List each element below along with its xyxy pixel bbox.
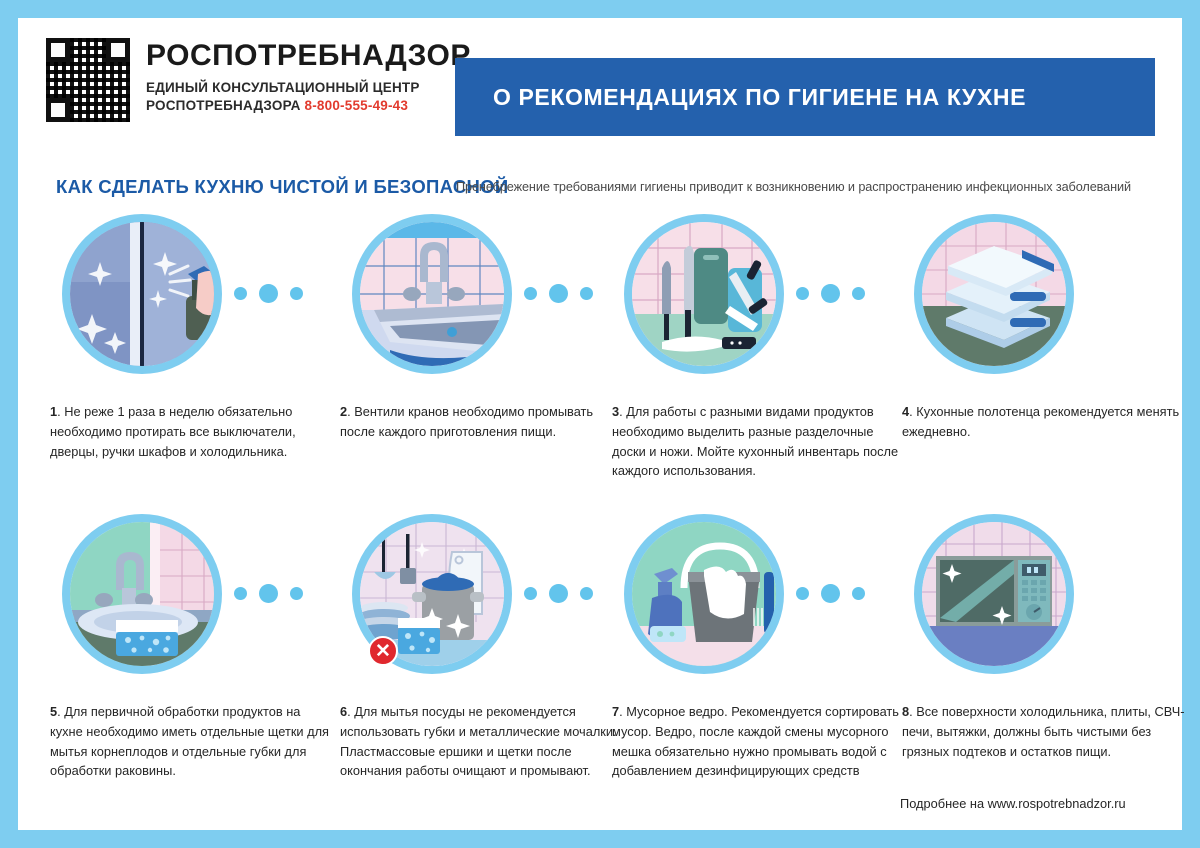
item-card-4: 4. Кухонные полотенца рекомендуется меня… (900, 214, 1190, 504)
item-caption-1: 1. Не реже 1 раза в неделю обязательно н… (50, 402, 335, 461)
dot (290, 287, 303, 300)
brand-title: РОСПОТРЕБНАДЗОР (146, 40, 471, 72)
item-text: . Не реже 1 раза в неделю обязательно не… (50, 404, 296, 459)
brand-block: РОСПОТРЕБНАДЗОР ЕДИНЫЙ КОНСУЛЬТАЦИОННЫЙ … (46, 38, 471, 122)
connector-dots-7 (796, 584, 865, 603)
item-card-7: 7. Мусорное ведро. Рекомендуется сортиро… (610, 514, 900, 804)
header: РОСПОТРЕБНАДЗОР ЕДИНЫЙ КОНСУЛЬТАЦИОННЫЙ … (18, 18, 1182, 140)
brand-subtitle-line2: РОСПОТРЕБНАДЗОРА 8-800-555-49-43 (146, 97, 471, 116)
item-text: . Мусорное ведро. Рекомендуется сортиров… (612, 704, 899, 778)
item-card-5: 5. Для первичной обработки продуктов на … (48, 514, 338, 804)
illustration-7 (624, 514, 784, 674)
brand-subtitle: ЕДИНЫЙ КОНСУЛЬТАЦИОННЫЙ ЦЕНТР РОСПОТРЕБН… (146, 79, 471, 116)
window-spray-bottle-icon (62, 214, 222, 374)
item-text: . Для мытья посуды не рекомендуется испо… (340, 704, 617, 778)
item-text: . Вентили кранов необходимо промывать по… (340, 404, 593, 439)
item-caption-5: 5. Для первичной обработки продуктов на … (50, 702, 335, 781)
dot (796, 587, 809, 600)
illustration-3 (624, 214, 784, 374)
cutting-boards-knives-icon (624, 214, 784, 374)
folded-towels-icon (914, 214, 1074, 374)
brand-text: РОСПОТРЕБНАДЗОР ЕДИНЫЙ КОНСУЛЬТАЦИОННЫЙ … (146, 38, 471, 116)
illustration-5 (62, 514, 222, 674)
footnote-link[interactable]: Подробнее на www.rospotrebnadzor.ru (900, 796, 1126, 811)
item-card-8: 8. Все поверхности холодильника, плиты, … (900, 514, 1190, 804)
dot (852, 587, 865, 600)
dot (821, 584, 840, 603)
item-caption-7: 7. Мусорное ведро. Рекомендуется сортиро… (612, 702, 904, 781)
item-caption-6: 6. Для мытья посуды не рекомендуется исп… (340, 702, 625, 781)
item-card-6: ✕ 6. Для мытья посуды не рекомендуется и… (338, 514, 628, 804)
brand-subtitle-line1: ЕДИНЫЙ КОНСУЛЬТАЦИОННЫЙ ЦЕНТР (146, 79, 471, 98)
illustration-8 (914, 514, 1074, 674)
prohibited-badge: ✕ (368, 636, 398, 666)
item-caption-2: 2. Вентили кранов необходимо промывать п… (340, 402, 625, 442)
section-description: Пренебрежение требованиями гигиены приво… (456, 180, 1131, 194)
connector-dots-6 (524, 584, 593, 603)
dot (821, 284, 840, 303)
item-text: . Для работы с разными видами продуктов … (612, 404, 898, 478)
item-card-2: 2. Вентили кранов необходимо промывать п… (338, 214, 628, 504)
dot (796, 287, 809, 300)
items-grid: 1. Не реже 1 раза в неделю обязательно н… (18, 214, 1182, 804)
page-title: О РЕКОМЕНДАЦИЯХ ПО ГИГИЕНЕ НА КУХНЕ (455, 84, 1026, 111)
connector-dots-1 (234, 284, 303, 303)
hotline-phone[interactable]: 8-800-555-49-43 (305, 98, 409, 113)
illustration-6: ✕ (352, 514, 512, 674)
section-heading: КАК СДЕЛАТЬ КУХНЮ ЧИСТОЙ И БЕЗОПАСНОЙ (56, 176, 508, 198)
item-card-3: 3. Для работы с разными видами продуктов… (610, 214, 900, 504)
illustration-1 (62, 214, 222, 374)
dot (580, 287, 593, 300)
qr-code-icon (46, 38, 130, 122)
sink-sponge-icon (62, 514, 222, 674)
connector-dots-5 (234, 584, 303, 603)
subtitle-row: КАК СДЕЛАТЬ КУХНЮ ЧИСТОЙ И БЕЗОПАСНОЙ Пр… (18, 170, 1182, 210)
connector-dots-2 (524, 284, 593, 303)
item-text: . Кухонные полотенца рекомендуется менят… (902, 404, 1179, 439)
dot (524, 287, 537, 300)
dot (234, 587, 247, 600)
dot (580, 587, 593, 600)
item-caption-8: 8. Все поверхности холодильника, плиты, … (902, 702, 1194, 761)
microwave-oven-icon (914, 514, 1074, 674)
illustration-4 (914, 214, 1074, 374)
poster-card: РОСПОТРЕБНАДЗОР ЕДИНЫЙ КОНСУЛЬТАЦИОННЫЙ … (18, 18, 1182, 830)
bucket-gloves-spray-icon (624, 514, 784, 674)
dot (259, 284, 278, 303)
dot (549, 584, 568, 603)
dot (852, 287, 865, 300)
item-text: . Все поверхности холодильника, плиты, С… (902, 704, 1185, 759)
item-caption-3: 3. Для работы с разными видами продуктов… (612, 402, 904, 481)
item-text: . Для первичной обработки продуктов на к… (50, 704, 329, 778)
items-row-bottom: 5. Для первичной обработки продуктов на … (18, 514, 1182, 804)
dot (259, 584, 278, 603)
item-card-1: 1. Не реже 1 раза в неделю обязательно н… (48, 214, 338, 504)
illustration-2 (352, 214, 512, 374)
connector-dots-3 (796, 284, 865, 303)
items-row-top: 1. Не реже 1 раза в неделю обязательно н… (18, 214, 1182, 504)
dot (234, 287, 247, 300)
dot (524, 587, 537, 600)
dot (549, 284, 568, 303)
item-caption-4: 4. Кухонные полотенца рекомендуется меня… (902, 402, 1194, 442)
dot (290, 587, 303, 600)
title-banner: О РЕКОМЕНДАЦИЯХ ПО ГИГИЕНЕ НА КУХНЕ (455, 58, 1155, 136)
sink-faucet-icon (352, 214, 512, 374)
